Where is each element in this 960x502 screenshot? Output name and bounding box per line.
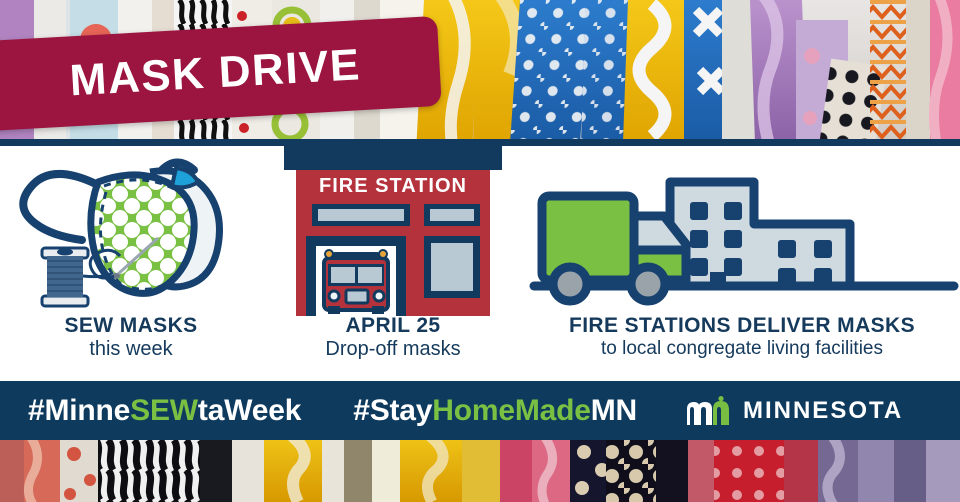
minnesota-logo: MINNESOTA (685, 396, 903, 426)
caption-sew-masks: SEW MASKS this week (0, 314, 262, 360)
hashtag-2-suffix: MN (591, 394, 637, 427)
delivery-truck-and-facility-icon (524, 146, 960, 316)
fire-station-icon: FIRE STATION (262, 146, 524, 316)
fire-station-sign: FIRE STATION (319, 175, 467, 197)
page-title: MASK DRIVE (68, 40, 362, 106)
caption-main: APRIL 25 (262, 314, 524, 338)
hashtag-2-prefix: #Stay (353, 394, 432, 427)
hashtag-2-highlight: HomeMade (432, 394, 590, 427)
caption-main: FIRE STATIONS DELIVER MASKS (524, 314, 960, 338)
caption-main: SEW MASKS (0, 314, 262, 338)
caption-deliver: FIRE STATIONS DELIVER MASKS to local con… (524, 314, 960, 359)
footer-bar: #MinneSEWtaWeek #StayHomeMadeMN MINNESOT… (0, 381, 960, 440)
caption-sub: Drop-off masks (262, 338, 524, 360)
content-area: SEW MASKS this week FIRE STATION (0, 146, 960, 381)
mn-wordmark-icon (685, 396, 731, 426)
hashtag-1-suffix: taWeek (198, 394, 301, 427)
hashtag-1-prefix: #Minne (28, 394, 130, 427)
fabric-photo-graphic-bottom (0, 440, 960, 502)
panel-fire-station: FIRE STATION (262, 146, 524, 381)
caption-sub: this week (0, 338, 262, 360)
hashtag-minnesewtaweek: #MinneSEWtaWeek (28, 394, 301, 428)
sewing-mask-icon (0, 146, 262, 316)
mask-drive-poster: MASK DRIVE (0, 0, 960, 502)
minnesota-wordmark: MINNESOTA (743, 397, 903, 425)
top-divider (0, 139, 960, 146)
panel-deliver-masks: FIRE STATIONS DELIVER MASKS to local con… (524, 146, 960, 381)
caption-drop-off: APRIL 25 Drop-off masks (262, 314, 524, 360)
bottom-fabric-photo (0, 440, 960, 502)
hashtag-stayhomemademn: #StayHomeMadeMN (353, 394, 637, 428)
hashtag-1-highlight: SEW (130, 394, 198, 427)
panel-sew-masks: SEW MASKS this week (0, 146, 262, 381)
caption-sub: to local congregate living facilities (524, 338, 960, 359)
